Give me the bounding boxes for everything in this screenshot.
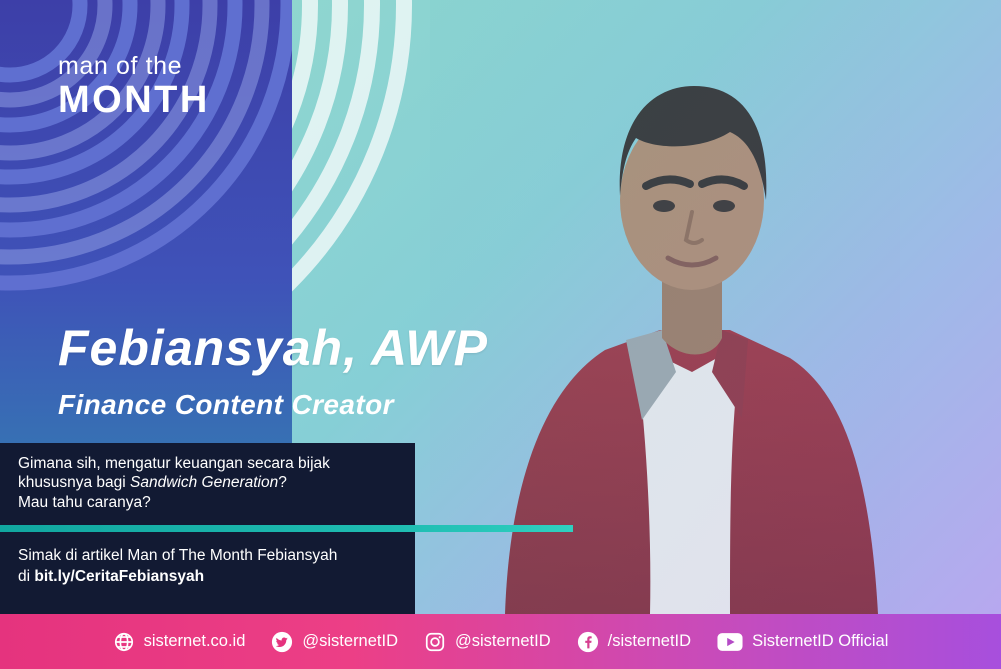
cta-prefix: di [18,568,34,585]
footer-item-facebook[interactable]: /sisternetID [577,631,691,653]
question-line-3: Mau tahu caranya? [18,493,397,512]
footer-item-instagram[interactable]: @sisternetID [424,631,551,653]
question-line-2-suffix: ? [278,474,287,491]
youtube-icon [717,632,743,652]
twitter-icon [271,631,293,653]
logo-line-1: man of the [58,54,210,79]
person-portrait-illustration [430,0,900,614]
cta-panel: Simak di artikel Man of The Month Febian… [0,532,415,614]
man-of-the-month-logo: man of the MONTH [58,54,210,119]
footer-label-facebook: /sisternetID [608,632,691,651]
social-footer-bar: sisternet.co.id @sisternetID @sisternetI… [0,614,1001,669]
teal-divider-bar [0,525,573,532]
question-line-1: Gimana sih, mengatur keuangan secara bij… [18,454,397,473]
question-panel: Gimana sih, mengatur keuangan secara bij… [0,443,415,525]
person-photo [430,0,900,614]
footer-label-youtube: SisternetID Official [752,632,888,651]
cta-line-2: di bit.ly/CeritaFebiansyah [18,567,397,588]
man-of-the-month-poster: man of the MONTH Febiansyah, AWP Finance… [0,0,1001,669]
question-emphasis: Sandwich Generation [130,474,278,491]
question-line-2-prefix: khususnya bagi [18,474,130,491]
cta-line-1: Simak di artikel Man of The Month Febian… [18,546,397,567]
person-name: Febiansyah, AWP [58,322,488,375]
instagram-icon [424,631,446,653]
footer-label-website: sisternet.co.id [144,632,246,651]
globe-icon [113,631,135,653]
logo-line-2: MONTH [58,81,210,119]
facebook-icon [577,631,599,653]
footer-label-twitter: @sisternetID [302,632,398,651]
footer-item-twitter[interactable]: @sisternetID [271,631,398,653]
featured-person-block: Febiansyah, AWP Finance Content Creator [58,322,488,421]
footer-item-youtube[interactable]: SisternetID Official [717,632,888,652]
person-role: Finance Content Creator [58,389,488,421]
footer-item-website[interactable]: sisternet.co.id [113,631,246,653]
cta-link[interactable]: bit.ly/CeritaFebiansyah [34,568,204,585]
footer-label-instagram: @sisternetID [455,632,551,651]
question-line-2: khususnya bagi Sandwich Generation? [18,473,397,492]
